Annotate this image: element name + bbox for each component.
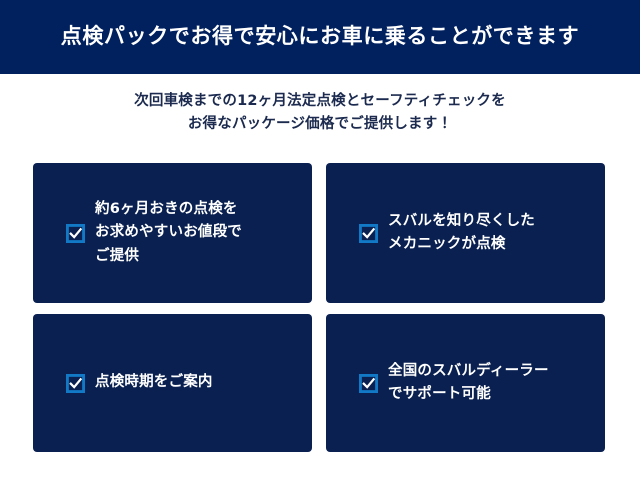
promo-page: 点検パックでお得で安心にお車に乗ることができます 次回車検までの12ヶ月法定点検…	[0, 0, 640, 480]
feature-card-text: スバルを知り尽くした メカニックが点検	[388, 210, 535, 257]
checkbox-checked-icon	[359, 374, 378, 393]
feature-card-subaru-mechanic: スバルを知り尽くした メカニックが点検	[326, 163, 605, 303]
feature-card-inspection-price: 約6ヶ月おきの点検を お求めやすいお値段で ご提供	[33, 163, 312, 303]
feature-card-text: 点検時期をご案内	[95, 371, 213, 394]
card-line: 全国のスバルディーラー	[388, 360, 549, 383]
feature-card-text: 約6ヶ月おきの点検を お求めやすいお値段で ご提供	[95, 198, 242, 268]
feature-card-grid: 約6ヶ月おきの点検を お求めやすいお値段で ご提供 スバルを知り尽くした メカニ…	[33, 163, 605, 452]
card-line: ご提供	[95, 245, 242, 268]
card-line: でサポート可能	[388, 383, 549, 406]
checkbox-checked-icon	[66, 224, 85, 243]
card-line: お求めやすいお値段で	[95, 221, 242, 244]
page-title: 点検パックでお得で安心にお車に乗ることができます	[61, 24, 579, 49]
header-banner: 点検パックでお得で安心にお車に乗ることができます	[0, 0, 640, 74]
feature-card-text: 全国のスバルディーラー でサポート可能	[388, 360, 549, 407]
card-line: 約6ヶ月おきの点検を	[95, 198, 242, 221]
subtitle-line-1: 次回車検までの12ヶ月法定点検とセーフティチェックを	[0, 90, 640, 113]
checkbox-checked-icon	[66, 374, 85, 393]
card-line: 点検時期をご案内	[95, 371, 213, 394]
subtitle-block: 次回車検までの12ヶ月法定点検とセーフティチェックを お得なパッケージ価格でご提…	[0, 90, 640, 137]
card-line: メカニックが点検	[388, 233, 535, 256]
checkbox-checked-icon	[359, 224, 378, 243]
card-line: スバルを知り尽くした	[388, 210, 535, 233]
subtitle-line-2: お得なパッケージ価格でご提供します！	[0, 113, 640, 136]
feature-card-nationwide-dealer: 全国のスバルディーラー でサポート可能	[326, 314, 605, 452]
feature-card-inspection-timing: 点検時期をご案内	[33, 314, 312, 452]
